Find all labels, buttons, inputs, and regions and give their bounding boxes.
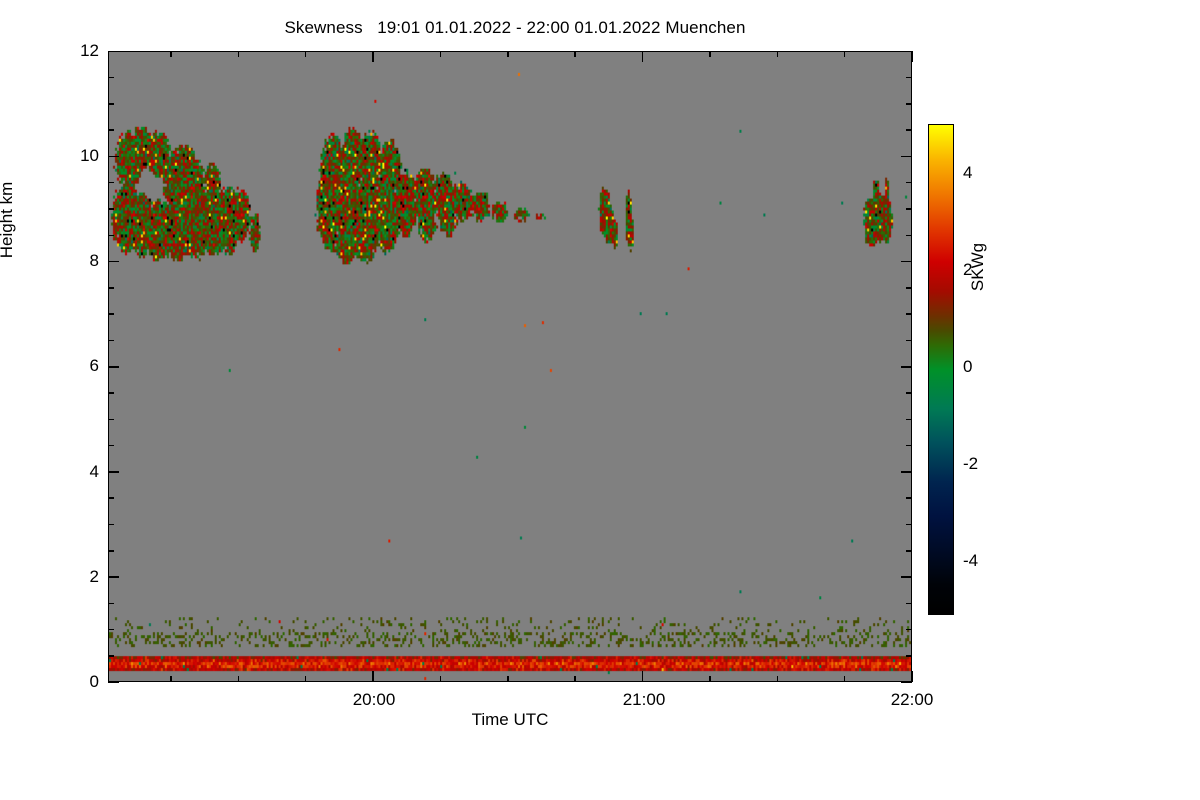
y-minor-tick — [906, 629, 912, 631]
x-axis-label: Time UTC — [108, 710, 912, 730]
y-minor-tick — [906, 103, 912, 105]
y-minor-tick — [108, 392, 114, 394]
x-minor-tick — [709, 676, 711, 682]
colorbar-tick-label: -2 — [963, 454, 978, 474]
x-tick-label: 21:00 — [623, 690, 666, 710]
x-minor-tick — [574, 51, 576, 57]
y-minor-tick — [108, 419, 114, 421]
y-minor-tick — [906, 340, 912, 342]
y-minor-tick — [108, 235, 114, 237]
x-minor-tick — [170, 676, 172, 682]
y-minor-tick — [906, 524, 912, 526]
x-minor-tick — [305, 676, 307, 682]
x-major-tick — [642, 671, 644, 682]
y-minor-tick — [108, 182, 114, 184]
y-minor-tick — [108, 313, 114, 315]
y-tick-label: 4 — [90, 462, 99, 482]
y-minor-tick — [906, 603, 912, 605]
y-minor-tick — [108, 655, 114, 657]
y-minor-tick — [108, 129, 114, 131]
y-minor-tick — [108, 208, 114, 210]
y-major-tick — [901, 576, 912, 578]
y-tick-label: 2 — [90, 567, 99, 587]
colorbar-tick-label: -4 — [963, 551, 978, 571]
y-major-tick — [108, 471, 119, 473]
skewness-time-height-plot: Skewness 19:01 01.01.2022 - 22:00 01.01.… — [0, 0, 1200, 800]
y-minor-tick — [108, 524, 114, 526]
y-minor-tick — [108, 550, 114, 552]
heatmap-canvas — [109, 52, 911, 681]
y-minor-tick — [906, 419, 912, 421]
y-tick-label: 6 — [90, 356, 99, 376]
plot-data-area — [108, 51, 912, 682]
colorbar-tick-label: 4 — [963, 163, 972, 183]
y-minor-tick — [906, 235, 912, 237]
x-major-tick — [911, 51, 913, 62]
page-title: Skewness 19:01 01.01.2022 - 22:00 01.01.… — [0, 18, 1030, 38]
y-tick-label: 8 — [90, 251, 99, 271]
y-minor-tick — [906, 208, 912, 210]
y-major-tick — [108, 682, 119, 684]
x-minor-tick — [777, 676, 779, 682]
colorbar-title: SKWg — [968, 212, 988, 322]
y-minor-tick — [108, 340, 114, 342]
y-major-tick — [108, 261, 119, 263]
x-major-tick — [372, 51, 374, 62]
y-major-tick — [901, 261, 912, 263]
x-minor-tick — [709, 51, 711, 57]
x-minor-tick — [574, 676, 576, 682]
y-minor-tick — [906, 313, 912, 315]
y-minor-tick — [906, 287, 912, 289]
y-major-tick — [901, 366, 912, 368]
y-minor-tick — [108, 287, 114, 289]
y-major-tick — [108, 576, 119, 578]
y-major-tick — [108, 366, 119, 368]
x-minor-tick — [238, 51, 240, 57]
y-tick-label-group: 12 10 8 6 4 2 0 — [0, 0, 99, 800]
y-minor-tick — [906, 497, 912, 499]
y-minor-tick — [906, 655, 912, 657]
y-major-tick — [901, 471, 912, 473]
y-major-tick — [108, 156, 119, 158]
y-minor-tick — [906, 129, 912, 131]
y-tick-label: 0 — [90, 672, 99, 692]
y-tick-label: 12 — [80, 41, 99, 61]
y-major-tick — [901, 156, 912, 158]
x-minor-tick — [440, 51, 442, 57]
y-minor-tick — [108, 103, 114, 105]
x-minor-tick — [507, 51, 509, 57]
x-minor-tick — [440, 676, 442, 682]
y-minor-tick — [906, 550, 912, 552]
x-major-tick — [372, 671, 374, 682]
x-minor-tick — [305, 51, 307, 57]
x-minor-tick — [777, 51, 779, 57]
y-minor-tick — [108, 497, 114, 499]
x-major-tick — [642, 51, 644, 62]
x-minor-tick — [844, 51, 846, 57]
y-minor-tick — [108, 629, 114, 631]
colorbar-tick-label: 0 — [963, 357, 972, 377]
x-minor-tick — [170, 51, 172, 57]
y-minor-tick — [108, 77, 114, 79]
x-minor-tick — [844, 676, 846, 682]
y-minor-tick — [906, 392, 912, 394]
colorbar — [928, 124, 954, 615]
x-minor-tick — [238, 676, 240, 682]
x-tick-label: 22:00 — [891, 690, 934, 710]
y-minor-tick — [108, 445, 114, 447]
y-major-tick — [108, 51, 119, 53]
y-tick-label: 10 — [80, 146, 99, 166]
y-minor-tick — [906, 445, 912, 447]
x-minor-tick — [507, 676, 509, 682]
y-minor-tick — [906, 182, 912, 184]
x-tick-label: 20:00 — [353, 690, 396, 710]
y-minor-tick — [906, 77, 912, 79]
x-major-tick — [911, 671, 913, 682]
y-minor-tick — [108, 603, 114, 605]
